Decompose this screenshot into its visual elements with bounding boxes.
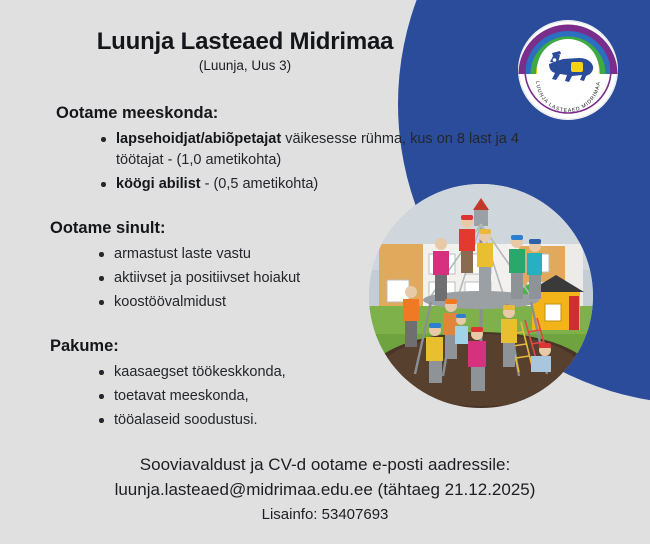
section-heading-expectations: Ootame sinult: xyxy=(50,219,520,238)
bullet-list-offer: kaasaegset töökeskkonda, toetavat meesko… xyxy=(94,362,520,431)
list-item-emphasis: köögi abilist xyxy=(116,176,201,192)
section-offer: Pakume: kaasaegset töökeskkonda, toetava… xyxy=(50,337,520,434)
list-item-text: tööalaseid soodustusi. xyxy=(114,412,258,428)
list-item-text: kaasaegset töökeskkonda, xyxy=(114,364,286,380)
list-item: köögi abilist - (0,5 ametikohta) xyxy=(96,174,526,195)
list-item: aktiivset ja positiivset hoiakut xyxy=(94,268,520,289)
section-expectations: Ootame sinult: armastust laste vastu akt… xyxy=(50,219,520,316)
list-item-text: armastust laste vastu xyxy=(114,246,251,262)
list-item-text: aktiivset ja positiivset hoiakut xyxy=(114,270,300,286)
contact-footer: Sooviavaldust ja CV-d ootame e-posti aad… xyxy=(0,452,650,527)
footer-email-deadline[interactable]: luunja.lasteaed@midrimaa.edu.ee (tähtaeg… xyxy=(0,477,650,502)
page-subtitle: (Luunja, Uus 3) xyxy=(0,58,490,73)
list-item: lapsehoidjat/abiõpetajat väikesesse rühm… xyxy=(96,129,526,171)
bullet-list-team: lapsehoidjat/abiõpetajat väikesesse rühm… xyxy=(96,129,526,195)
page-title: Luunja Lasteaed Midrimaa xyxy=(0,28,490,56)
footer-phone: Lisainfo: 53407693 xyxy=(0,502,650,527)
section-heading-team: Ootame meeskonda: xyxy=(56,104,526,123)
list-item: kaasaegset töökeskkonda, xyxy=(94,362,520,383)
bullet-list-expectations: armastust laste vastu aktiivset ja posit… xyxy=(94,244,520,313)
list-item-text: koostöövalmidust xyxy=(114,294,226,310)
list-item: armastust laste vastu xyxy=(94,244,520,265)
list-item-emphasis: lapsehoidjat/abiõpetajat xyxy=(116,131,281,147)
section-team: Ootame meeskonda: lapsehoidjat/abiõpetaj… xyxy=(56,104,526,198)
list-item: toetavat meeskonda, xyxy=(94,386,520,407)
job-advert-poster: LUUNJA LASTEAED MIDRIMAA xyxy=(0,0,650,544)
kindergarten-logo: LUUNJA LASTEAED MIDRIMAA xyxy=(516,18,620,122)
list-item: koostöövalmidust xyxy=(94,292,520,313)
list-item-text: toetavat meeskonda, xyxy=(114,388,249,404)
section-heading-offer: Pakume: xyxy=(50,337,520,356)
list-item: tööalaseid soodustusi. xyxy=(94,410,520,431)
footer-instruction: Sooviavaldust ja CV-d ootame e-posti aad… xyxy=(0,452,650,477)
list-item-text: - (0,5 ametikohta) xyxy=(201,176,319,192)
